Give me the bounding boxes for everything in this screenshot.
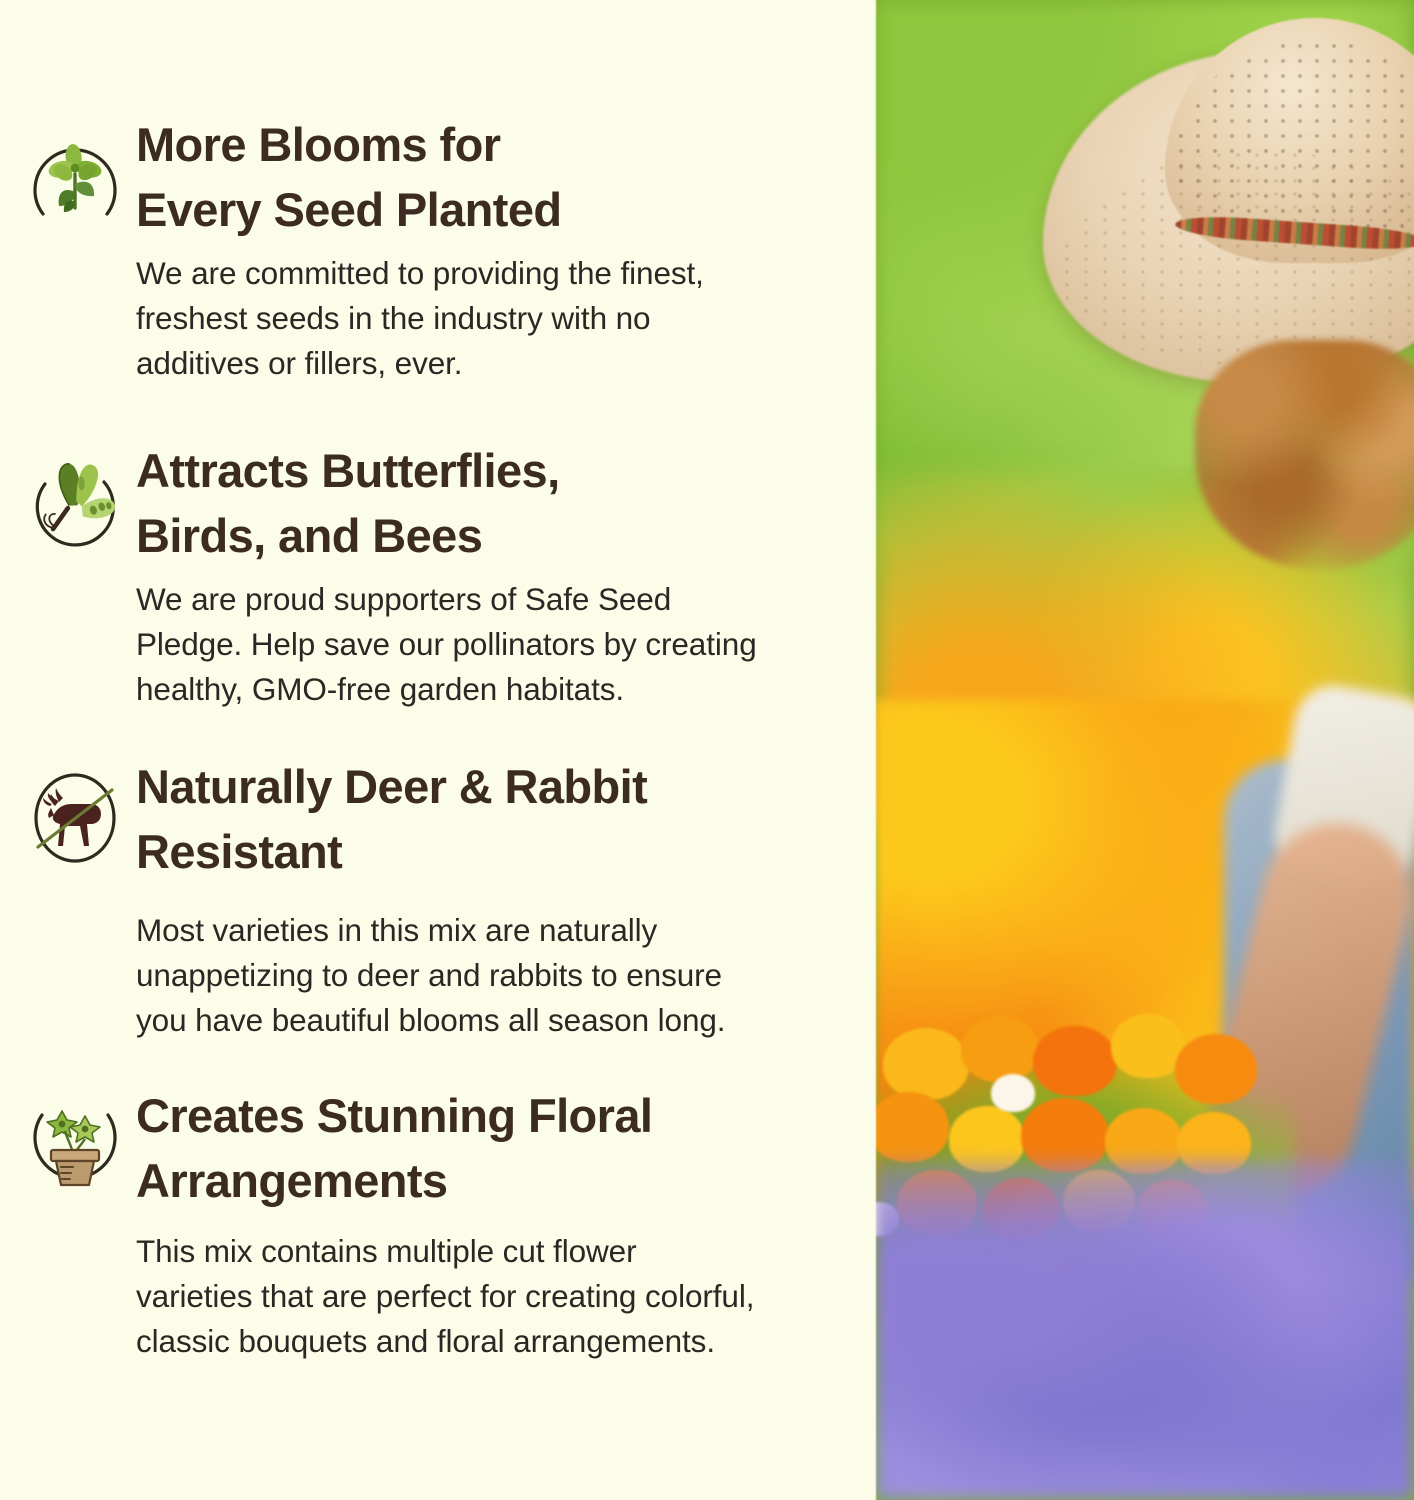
- poppy-petal: [1175, 1034, 1257, 1104]
- feature-item-more-blooms: More Blooms for Every Seed Planted We ar…: [0, 112, 875, 386]
- poppy-petal: [1033, 1026, 1117, 1096]
- features-panel: More Blooms for Every Seed Planted We ar…: [0, 0, 875, 1500]
- poppy-petal: [883, 1028, 969, 1100]
- feature-text-block: More Blooms for Every Seed Planted We ar…: [136, 112, 744, 386]
- photo-stage: [875, 0, 1414, 1500]
- feature-icon-container: [14, 1083, 136, 1197]
- flower-seedling-icon: [25, 126, 125, 226]
- lifestyle-photo: [875, 0, 1414, 1500]
- feature-icon-container: [14, 112, 136, 226]
- poppy-petal: [1111, 1014, 1185, 1078]
- feature-text-block: Naturally Deer & Rabbit Resistant Most v…: [136, 754, 765, 1043]
- potted-flowers-icon: [25, 1097, 125, 1197]
- feature-description: We are committed to providing the finest…: [136, 251, 704, 386]
- poppy-petal: [875, 1092, 949, 1162]
- feature-description: This mix contains multiple cut flower va…: [136, 1229, 754, 1364]
- no-deer-icon: [25, 768, 125, 868]
- feature-icon-container: [14, 438, 136, 552]
- feature-title: Creates Stunning Floral Arrangements: [136, 1083, 754, 1213]
- feature-description: We are proud supporters of Safe Seed Ple…: [136, 577, 757, 712]
- feature-text-block: Creates Stunning Floral Arrangements Thi…: [136, 1083, 794, 1364]
- feature-item-deer-rabbit-resistant: Naturally Deer & Rabbit Resistant Most v…: [0, 754, 875, 1043]
- panel-divider: [875, 0, 877, 1500]
- poppy-petal: [961, 1016, 1039, 1082]
- white-poppy-petal: [991, 1074, 1035, 1112]
- purple-wildflowers-foreground: [875, 1160, 1414, 1500]
- feature-icon-container: [14, 754, 136, 868]
- feature-description: Most varieties in this mix are naturally…: [136, 908, 725, 1043]
- feature-title: More Blooms for Every Seed Planted: [136, 112, 704, 242]
- feature-item-floral-arrangements: Creates Stunning Floral Arrangements Thi…: [0, 1083, 875, 1364]
- product-feature-infographic: More Blooms for Every Seed Planted We ar…: [0, 0, 1414, 1500]
- feature-item-attracts-pollinators: Attracts Butterflies, Birds, and Bees We…: [0, 438, 875, 712]
- feature-title: Attracts Butterflies, Birds, and Bees: [136, 438, 757, 568]
- feature-title: Naturally Deer & Rabbit Resistant: [136, 754, 725, 884]
- feature-text-block: Attracts Butterflies, Birds, and Bees We…: [136, 438, 797, 712]
- butterfly-icon: [25, 452, 125, 552]
